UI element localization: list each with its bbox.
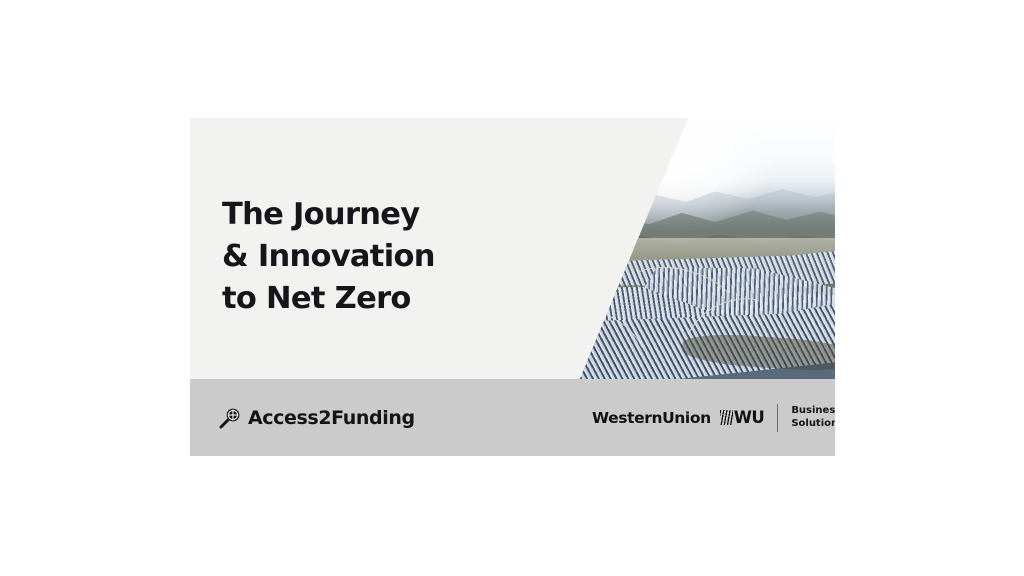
magnifying-glass-crosshair-icon [218,406,242,430]
access2funding-wordmark: Access2Funding [248,407,415,429]
title-line-3: to Net Zero [222,278,522,320]
western-union-logo: WesternUnion WU Business Solutions [592,404,835,432]
vertical-divider [777,404,778,432]
access2funding-logo: Access2Funding [218,406,415,430]
wu-abbreviation: WU [734,408,765,427]
wu-mark: WU [720,408,765,427]
business-solutions-line-2: Solutions [791,418,835,431]
screenshot-canvas: The Journey & Innovation to Net Zero Ac [0,0,1024,576]
title-line-1: The Journey [222,194,522,236]
title-line-2: & Innovation [222,236,522,278]
solar-farm-photo [487,118,835,379]
western-union-wordmark: WesternUnion [592,409,711,427]
wu-stripes-icon [720,410,733,425]
slide-body: The Journey & Innovation to Net Zero [190,118,835,379]
slide-footer-bar: Access2Funding WesternUnion WU Business … [190,379,835,456]
presentation-slide: The Journey & Innovation to Net Zero Ac [190,118,835,456]
slide-title: The Journey & Innovation to Net Zero [222,194,522,320]
photo-sky-ground [487,118,835,379]
business-solutions-line-1: Business [791,405,835,418]
business-solutions-label: Business Solutions [791,405,835,430]
